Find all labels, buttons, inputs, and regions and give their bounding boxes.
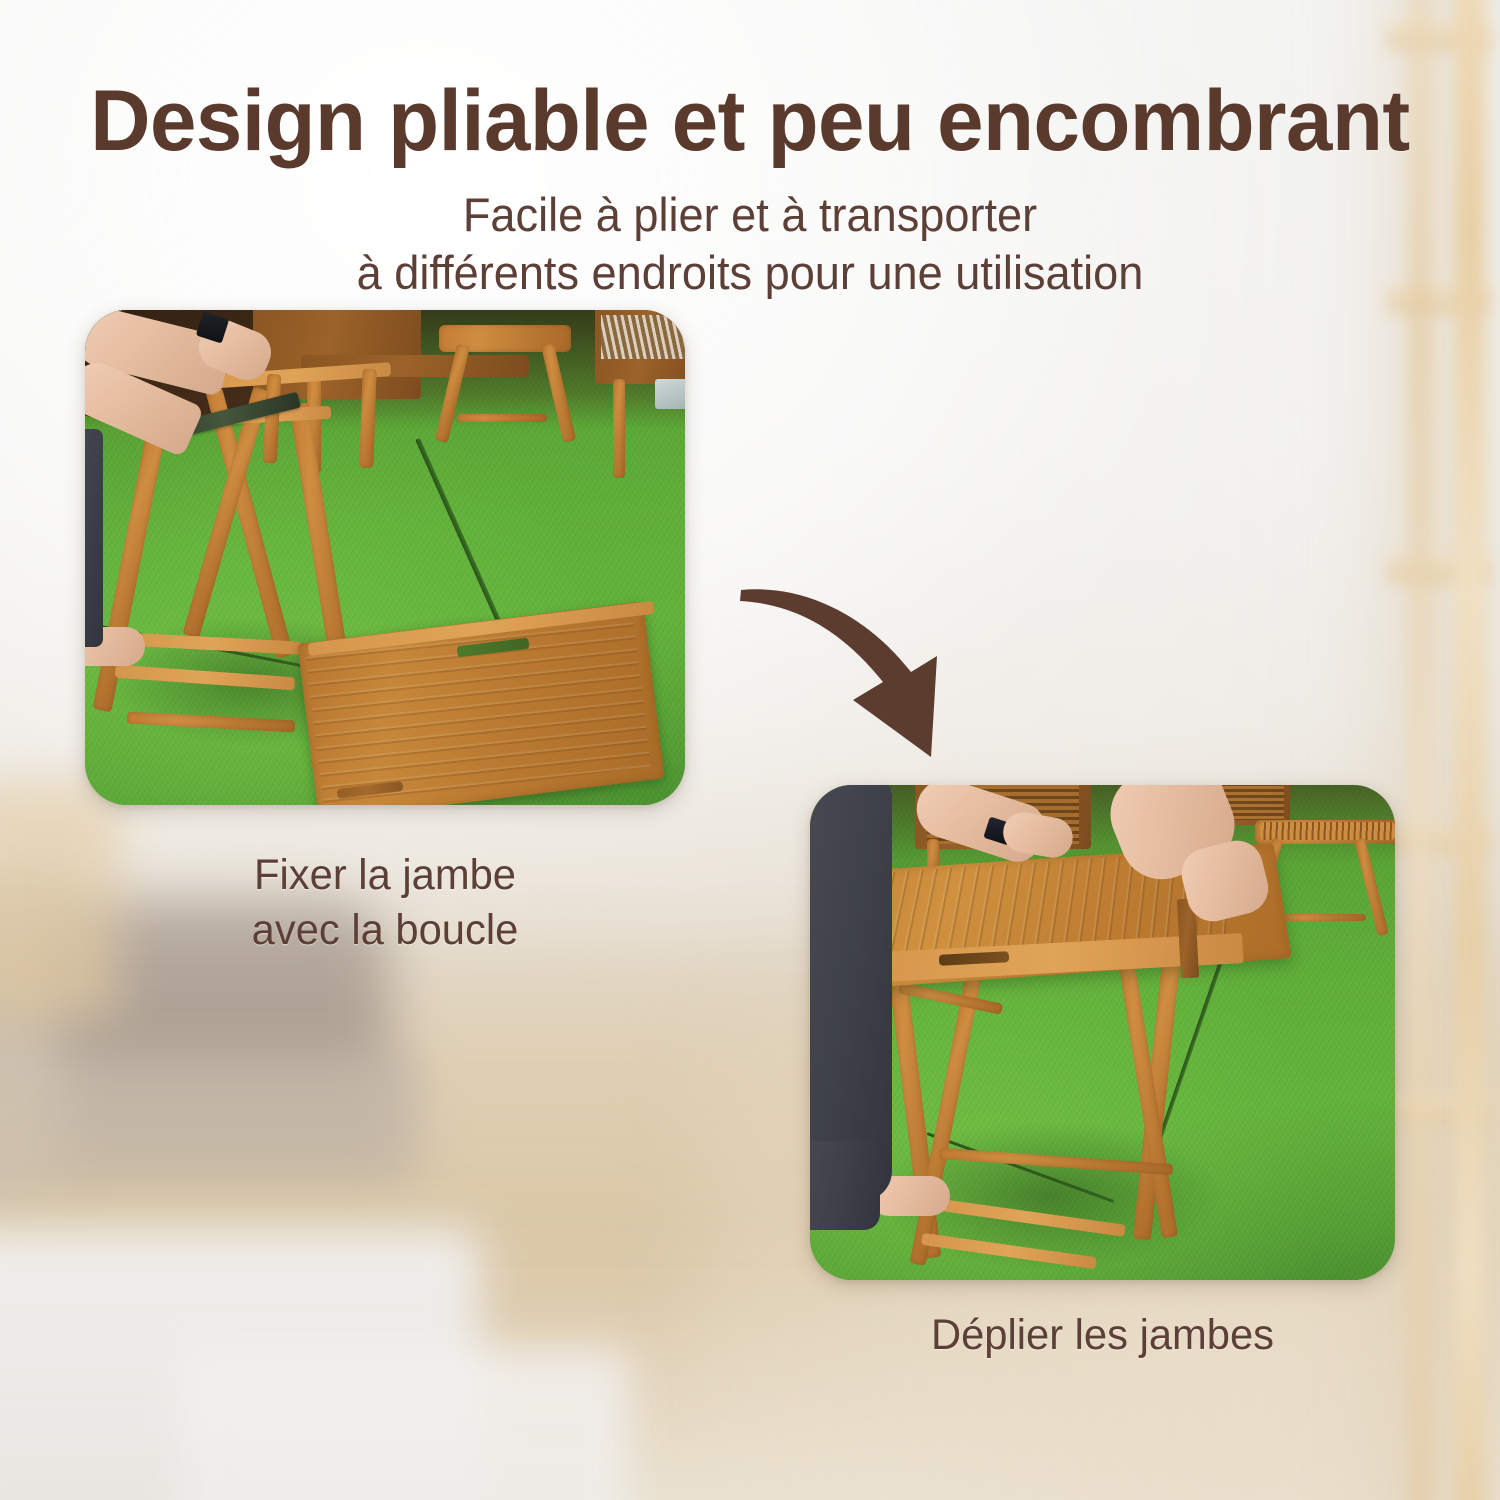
- subtitle-line-1: Facile à plier et à transporter: [30, 186, 1470, 244]
- background-slats: [601, 315, 685, 360]
- trouser-leg: [85, 429, 103, 647]
- subtitle: Facile à plier et à transporter à différ…: [30, 164, 1470, 303]
- caption-fold-line-1: Fixer la jambe: [94, 848, 676, 903]
- trouser-cuff: [810, 1141, 880, 1230]
- photo-step-unfold: [810, 785, 1395, 1280]
- subtitle-line-2: à différents endroits pour une utilisati…: [30, 244, 1470, 302]
- background-chair-brace: [457, 414, 547, 422]
- caption-unfold-line-1: Déplier les jambes: [819, 1308, 1386, 1363]
- background-sofa-seat: [0, 1050, 420, 1185]
- caption-fold-line-2: avec la boucle: [94, 903, 676, 958]
- background-rug-secondary: [180, 1350, 630, 1500]
- background-furniture-leg: [613, 379, 625, 478]
- background-stool-brace: [1278, 914, 1366, 921]
- caption-step-fold: Fixer la jambe avec la boucle: [94, 848, 676, 958]
- header: Design pliable et peu encombrant Facile …: [0, 0, 1500, 303]
- trouser-leg: [810, 785, 892, 1201]
- caption-step-unfold: Déplier les jambes: [819, 1308, 1386, 1363]
- background-stool-slats: [1260, 822, 1395, 840]
- photo-step-fold-content: [85, 310, 685, 805]
- page-title: Design pliable et peu encombrant: [23, 0, 1478, 164]
- curved-arrow-icon: [735, 560, 985, 765]
- photo-step-unfold-content: [810, 785, 1395, 1280]
- photo-step-fold: [85, 310, 685, 805]
- background-box: [655, 379, 685, 409]
